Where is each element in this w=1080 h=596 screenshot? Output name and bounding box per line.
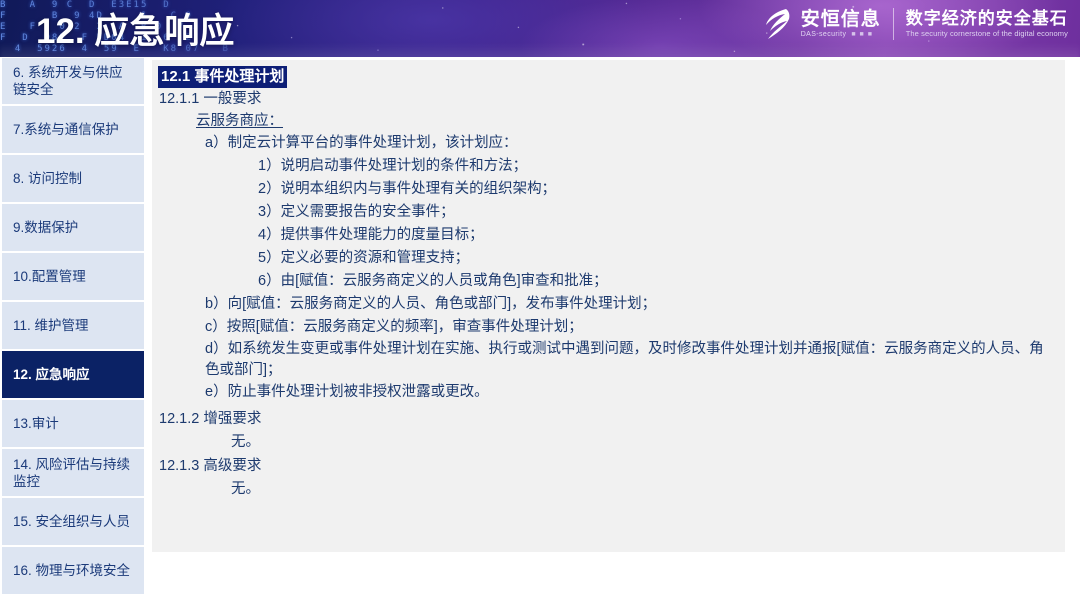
company-name-en: DAS-security — [801, 30, 847, 39]
logo-divider — [893, 8, 894, 40]
sidebar-item-7[interactable]: 7.系统与通信保护 — [2, 106, 144, 153]
brand-company: 安恒信息 DAS-security ■ ■ ■ — [801, 9, 881, 39]
company-en-marks: ■ ■ ■ — [851, 30, 873, 39]
sidebar-item-8[interactable]: 8. 访问控制 — [2, 155, 144, 202]
sidebar-item-10[interactable]: 10.配置管理 — [2, 253, 144, 300]
das-security-swoosh-icon — [762, 7, 792, 41]
content-panel: 12.1 事件处理计划 12.1.1 一般要求 云服务商应： a）制定云计算平台… — [152, 60, 1065, 552]
list-item-a: a）制定云计算平台的事件处理计划，该计划应： — [205, 132, 1055, 155]
list-item-d: d）如系统发生变更或事件处理计划在实施、执行或测试中遇到问题，及时修改事件处理计… — [205, 339, 1055, 381]
brand-logo: 安恒信息 DAS-security ■ ■ ■ 数字经济的安全基石 The se… — [762, 7, 1068, 41]
company-name-cn: 安恒信息 — [801, 9, 881, 30]
none-value-12-1-2: 无。 — [231, 430, 1055, 455]
list-item-b: b）向[赋值：云服务商定义的人员、角色或部门]，发布事件处理计划； — [205, 293, 1055, 316]
page-title: 12. 应急响应 — [36, 3, 234, 54]
sidebar-item-15[interactable]: 15. 安全组织与人员 — [2, 498, 144, 545]
brand-slogan: 数字经济的安全基石 The security cornerstone of th… — [906, 9, 1068, 39]
list-item-a-3: 3）定义需要报告的安全事件； — [258, 201, 1055, 224]
sidebar-nav[interactable]: 6. 系统开发与供应链安全 7.系统与通信保护 8. 访问控制 9.数据保护 1… — [0, 57, 146, 596]
list-item-e: e）防止事件处理计划被非授权泄露或更改。 — [205, 381, 1055, 404]
slide-root: B A 9 C D E3E15 D F B 9 4D 1 C 0 E F 0 2… — [0, 0, 1080, 596]
slogan-en: The security cornerstone of the digital … — [906, 29, 1068, 39]
sidebar-item-16[interactable]: 16. 物理与环境安全 — [2, 547, 144, 594]
list-item-a-1: 1）说明启动事件处理计划的条件和方法； — [258, 155, 1055, 178]
subsection-heading-12-1-1: 12.1.1 一般要求 — [159, 88, 1055, 110]
subsection-heading-12-1-2: 12.1.2 增强要求 — [159, 408, 1055, 430]
subsection-heading-12-1-3: 12.1.3 高级要求 — [159, 455, 1055, 477]
slogan-cn: 数字经济的安全基石 — [906, 9, 1068, 29]
sidebar-item-9[interactable]: 9.数据保护 — [2, 204, 144, 251]
section-heading-row: 12.1 事件处理计划 — [156, 66, 1055, 88]
section-heading: 12.1 事件处理计划 — [158, 66, 287, 88]
sidebar-item-13[interactable]: 13.审计 — [2, 400, 144, 447]
sidebar-item-6[interactable]: 6. 系统开发与供应链安全 — [2, 58, 144, 104]
lead-in-text: 云服务商应： — [196, 110, 1055, 132]
list-item-a-5: 5）定义必要的资源和管理支持； — [258, 247, 1055, 270]
list-item-c: c）按照[赋值：云服务商定义的频率]，审查事件处理计划； — [205, 316, 1055, 339]
list-item-a-4: 4）提供事件处理能力的度量目标； — [258, 224, 1055, 247]
sidebar-item-14[interactable]: 14. 风险评估与持续监控 — [2, 449, 144, 496]
company-name-en-row: DAS-security ■ ■ ■ — [801, 30, 881, 39]
none-value-12-1-3: 无。 — [231, 477, 1055, 502]
list-item-a-6: 6）由[赋值：云服务商定义的人员或角色]审查和批准； — [258, 270, 1055, 293]
sidebar-item-12[interactable]: 12. 应急响应 — [2, 351, 144, 398]
sidebar-item-11[interactable]: 11. 维护管理 — [2, 302, 144, 349]
list-item-a-2: 2）说明本组织内与事件处理有关的组织架构； — [258, 178, 1055, 201]
